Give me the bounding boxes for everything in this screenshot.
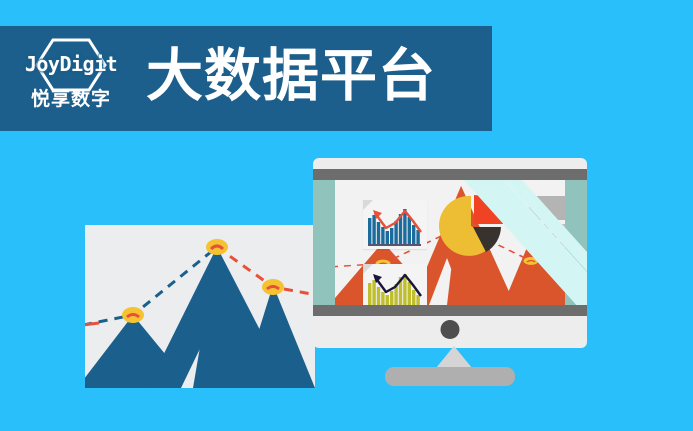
doc-row <box>529 233 565 238</box>
monitor-screen <box>313 180 587 305</box>
poster-canvas: JoyDigit 悦享数字 大数据平台 <box>0 0 693 431</box>
trend-line-stub <box>85 323 99 325</box>
blue-bar-chart <box>363 200 427 249</box>
power-button-icon[interactable] <box>441 320 460 339</box>
screen-edge-left <box>313 180 335 305</box>
logo-wordmark: JoyDigit <box>25 54 117 74</box>
document-block[interactable] <box>529 196 565 244</box>
logo-subtitle: 悦享数字 <box>31 90 111 109</box>
trend-marker <box>206 239 228 255</box>
screen-trend-marker <box>524 257 539 265</box>
brand-logo: JoyDigit 悦享数字 <box>16 35 126 123</box>
page-title: 大数据平台 <box>146 48 436 105</box>
monitor-top-band <box>313 169 587 180</box>
doc-row <box>529 224 565 229</box>
monitor-stand-neck <box>436 346 472 368</box>
olive-bar-chart <box>363 264 427 305</box>
doc-row <box>529 242 565 247</box>
doc-header <box>529 196 565 220</box>
dashboard-viewport <box>335 180 565 305</box>
monitor-stand-base <box>385 367 515 386</box>
left-panel-mountain-chart <box>85 225 315 388</box>
blue-bar-card[interactable] <box>363 200 427 249</box>
card-fold-corner <box>363 264 373 274</box>
trend-marker <box>262 279 284 295</box>
pie-slice-red <box>474 195 503 224</box>
olive-bar-card[interactable] <box>363 264 427 305</box>
pie-chart[interactable] <box>437 192 505 260</box>
header-banner: JoyDigit 悦享数字 大数据平台 <box>0 26 492 131</box>
card-fold-corner <box>363 200 373 210</box>
desktop-monitor <box>313 158 587 348</box>
trend-marker <box>122 307 144 323</box>
left-mountain-svg <box>85 225 315 388</box>
screen-edge-right <box>565 180 587 305</box>
monitor-bottom-band <box>313 305 587 316</box>
pie-chart-svg <box>437 192 505 260</box>
